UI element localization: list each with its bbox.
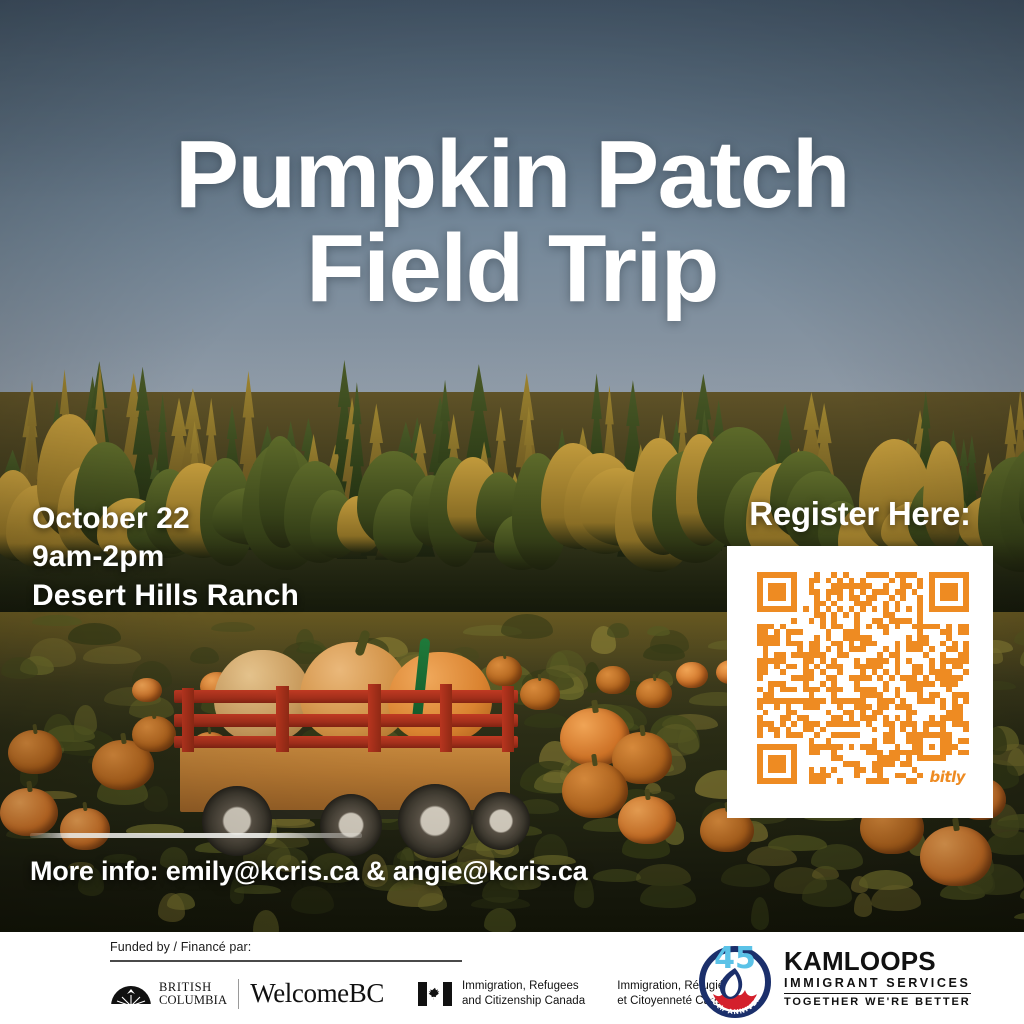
british-columbia-logo: BRITISH COLUMBIA: [110, 981, 227, 1007]
bc-sun-icon: [110, 981, 152, 1007]
qr-code-panel[interactable]: bitly: [727, 546, 993, 818]
logo-divider: [238, 979, 239, 1009]
pumpkin-wagon: [172, 628, 532, 858]
canada-en-line-1: Immigration, Refugees: [462, 979, 585, 993]
canada-en-line-2: and Citizenship Canada: [462, 994, 585, 1008]
canada-government-logo: Immigration, Refugees and Citizenship Ca…: [418, 979, 736, 1007]
bc-line-2: COLUMBIA: [159, 994, 227, 1007]
contact-info: More info: emily@kcris.ca & angie@kcris.…: [30, 856, 587, 887]
page-title: Pumpkin Patch Field Trip: [0, 128, 1024, 316]
title-line-1: Pumpkin Patch: [175, 121, 849, 228]
register-heading: Register Here:: [727, 495, 993, 533]
welcomebc-wordmark: WelcomeBC: [250, 978, 384, 1009]
wagon-post: [276, 686, 289, 752]
wagon-post: [502, 686, 514, 752]
kamloops-tagline: TOGETHER WE'RE BETTER: [784, 997, 971, 1008]
wagon-wheel: [320, 794, 382, 856]
bitly-watermark: bitly: [930, 768, 965, 786]
wagon-post: [368, 684, 381, 752]
qr-code[interactable]: bitly: [757, 572, 969, 784]
kamloops-immigrant-services-logo: 45 45th ANNIVERSARY KAMLOOPS IMMIGRANT S…: [695, 938, 971, 1018]
wagon-rail: [174, 714, 518, 727]
canada-text-english: Immigration, Refugees and Citizenship Ca…: [462, 979, 585, 1007]
event-time: 9am-2pm: [32, 538, 299, 576]
funder-logos: BRITISH COLUMBIA WelcomeBC Immigration, …: [110, 978, 736, 1009]
svg-text:45: 45: [714, 941, 756, 976]
wagon-post: [182, 688, 194, 752]
wagon-rail: [174, 736, 518, 748]
kamloops-subtitle: IMMIGRANT SERVICES: [784, 977, 971, 990]
anniversary-badge-icon: 45 45th ANNIVERSARY: [695, 938, 775, 1018]
poster: Pumpkin Patch Field Trip October 22 9am-…: [0, 0, 1024, 1024]
title-line-2: Field Trip: [0, 222, 1024, 316]
bc-line-1: BRITISH: [159, 981, 227, 994]
canada-flag-icon: [418, 982, 452, 1006]
fence-rail: [30, 833, 362, 838]
footer-bar: Funded by / Financé par:: [0, 932, 1024, 1024]
bc-wordmark: BRITISH COLUMBIA: [159, 981, 227, 1007]
event-date: October 22: [32, 500, 299, 538]
wagon-wheel: [398, 784, 472, 858]
wagon-post: [440, 684, 452, 752]
wagon-wheel: [472, 792, 530, 850]
funding-group: Funded by / Financé par:: [110, 940, 685, 962]
event-details: October 22 9am-2pm Desert Hills Ranch: [32, 500, 299, 615]
wagon-wheel: [202, 786, 272, 856]
kamloops-divider: [784, 993, 971, 995]
wagon-rail: [174, 690, 518, 703]
kamloops-name: KAMLOOPS: [784, 948, 971, 974]
funding-divider: [110, 960, 462, 962]
funded-by-label: Funded by / Financé par:: [110, 940, 685, 954]
kamloops-wordmark: KAMLOOPS IMMIGRANT SERVICES TOGETHER WE'…: [784, 948, 971, 1008]
event-location: Desert Hills Ranch: [32, 577, 299, 615]
qr-modules: [757, 572, 969, 784]
